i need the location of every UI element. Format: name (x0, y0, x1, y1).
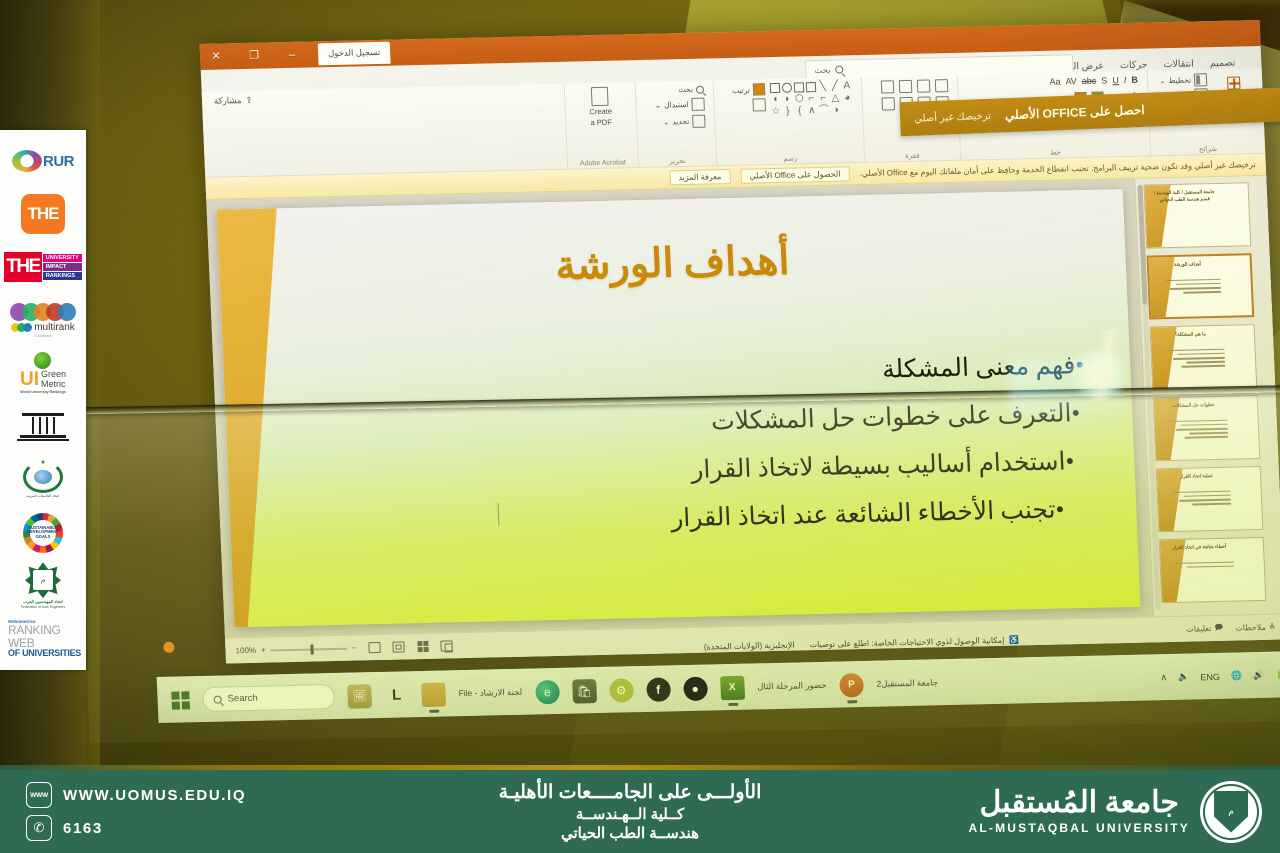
shape-square[interactable] (806, 82, 816, 92)
footer-website-row[interactable]: WWW WWW.UOMUS.EDU.IQ (26, 782, 330, 808)
the-label: THE (28, 204, 59, 224)
the-world-university-rankings-logo: THE (4, 189, 82, 239)
footer-accent-line (0, 765, 1280, 770)
footer-brand-block: جامعة المُستقبل AL-MUSTAQBAL UNIVERSITY … (930, 781, 1280, 843)
phone-icon: ✆ (26, 815, 52, 841)
footer-center-block: الأولـــى على الجامــــعات الأهليـة كــل… (330, 781, 930, 842)
arab-engineers-star-icon: م (25, 562, 61, 598)
find-label: بحث (678, 85, 693, 94)
ui-label: UI (20, 370, 39, 389)
arrange-button[interactable]: ترتيب (732, 83, 765, 96)
slide-number: 5 (1262, 471, 1264, 480)
microsoft-store-icon[interactable]: 🛍 (572, 679, 597, 704)
slide-number: 6 (1265, 542, 1267, 551)
arab-universities-sub: اتحاد الجامعات العربية (27, 494, 59, 498)
search-icon (696, 85, 704, 93)
powerpoint-window-label[interactable]: جامعة المستقبل2 (876, 677, 938, 689)
slide-thumb-title: جامعة المستقبل / كلية الهندسة / قسم هندس… (1151, 189, 1219, 204)
notes-label: ملاحطات (1235, 623, 1266, 633)
impact-line-3: RANKINGS (43, 272, 82, 280)
of-universities-label: OF UNIVERSITIES (8, 649, 81, 658)
comments-button[interactable]: 🗩 تعليقات (1186, 621, 1224, 636)
underline-button[interactable]: U (1112, 75, 1119, 85)
replace-label: استبدال (664, 100, 689, 110)
webometrics-logo: Webometrics RANKING WEB OF UNIVERSITIES (4, 614, 82, 664)
metric-label: Metric (41, 380, 66, 389)
layout-label: تخطيط (1168, 76, 1191, 86)
quick-styles-button[interactable] (732, 98, 766, 112)
normal-view-button[interactable] (368, 642, 380, 653)
layout-button[interactable]: تخطيط ⌄ (1157, 73, 1208, 87)
slide-thumb-lines (1157, 346, 1225, 371)
excel-window-icon[interactable]: X (720, 675, 745, 700)
share-label: مشاركة (214, 95, 242, 107)
lamp-glare-highlight (1068, 350, 1130, 398)
list-item[interactable]: 2 أهداف الورشة (1147, 253, 1255, 319)
tray-expand-icon[interactable]: ∧ (1160, 672, 1167, 683)
notes-view-button[interactable] (392, 641, 404, 652)
line-spacing-icon[interactable] (881, 97, 895, 110)
shape-brace-left[interactable]: { (795, 106, 805, 116)
reading-view-button[interactable] (440, 640, 452, 651)
footer-tagline: الأولـــى على الجامــــعات الأهليـة (330, 781, 930, 804)
shape-caret-up[interactable]: ∧ (807, 106, 817, 116)
tab-animations[interactable]: حركات (1120, 60, 1148, 72)
greenmetric-sub: World University Rankings (20, 390, 66, 394)
group-name-acrobat: Adobe Acrobat (568, 159, 638, 168)
select-icon (692, 115, 706, 128)
group-name-paragraph: فقرة (865, 151, 960, 161)
ribbon-group-acrobat: Create a PDF Adobe Acrobat (563, 82, 638, 169)
slide-title[interactable]: أهداف الورشة (218, 229, 1126, 297)
shape-pie[interactable]: ◕ (842, 93, 852, 103)
file-explorer-label[interactable]: لجنة الارشاد - File (458, 687, 522, 699)
shape-half-right[interactable]: ◗ (782, 95, 792, 105)
weather-widget[interactable]: 19°C مشمس (163, 636, 206, 657)
green-globe-icon (34, 352, 51, 369)
slide-thumb-title: خطوات حل المشكلات (1160, 402, 1227, 410)
start-icon[interactable] (171, 691, 190, 709)
the-impact-rankings-logo: THE UNIVERSITY IMPACT RANKINGS (4, 242, 82, 292)
slide-body-placeholder[interactable]: •فهم معنى المشكلة •التعرف على خطوات حل ا… (263, 342, 1091, 552)
slide-thumb-lines (1167, 559, 1234, 571)
rankings-sidebar: RUR THE THE UNIVERSITY IMPACT RANKINGS (0, 130, 86, 670)
ui-greenmetric-logo: UI Green Metric World University Ranking… (4, 348, 82, 398)
shape-caret-down[interactable]: ⌒ (819, 106, 829, 116)
shanghai-ranking-logo (4, 401, 82, 451)
share-icon: ⇪ (245, 95, 253, 106)
slide-thumb-title: أخطاء شائعة في اتخاذ القرار (1166, 544, 1233, 552)
photos-app-icon[interactable]: 🖼 (347, 684, 372, 709)
powerpoint-window-icon[interactable]: P (839, 673, 864, 698)
tab-design[interactable]: تصميم (1210, 58, 1236, 70)
arrange-icon (753, 83, 766, 95)
other-app-icon[interactable]: ● (683, 676, 708, 701)
list-item[interactable]: 6 أخطاء شائعة في اتخاذ القرار (1159, 537, 1267, 603)
slide-thumb-title: ما هي المشكلة؟ (1157, 331, 1224, 339)
slide-thumbnail-panel[interactable]: 1 جامعة المستقبل / كلية الهندسة / قسم هن… (1134, 176, 1280, 617)
weather-temp: 19°C (187, 636, 205, 645)
language-indicator[interactable]: ENG (1200, 671, 1220, 681)
impact-line-1: UNIVERSITY (43, 254, 82, 262)
share-button[interactable]: ⇪ مشاركة (214, 95, 253, 107)
battery-icon[interactable]: 🔋 (1275, 669, 1280, 680)
bold-button[interactable]: B (1131, 75, 1138, 85)
chevron-down-icon: ⌄ (1159, 76, 1166, 85)
comments-label: تعليقات (1186, 624, 1212, 634)
multirank-dots-icon (11, 323, 32, 332)
slide-number: 1 (1250, 187, 1252, 196)
footer-website[interactable]: WWW.UOMUS.EDU.IQ (63, 787, 246, 804)
list-item[interactable]: 1 جامعة المستقبل / كلية الهندسة / قسم هن… (1143, 182, 1251, 248)
ranking-web-label: RANKING WEB (8, 624, 82, 649)
layout-icon (1194, 73, 1208, 86)
settings-app-icon[interactable]: ⚙ (609, 678, 634, 703)
close-icon[interactable]: ✕ (204, 43, 229, 70)
chevron-down-icon: ⌄ (655, 101, 662, 110)
page-footer: WWW WWW.UOMUS.EDU.IQ ✆ 6163 الأولـــى عل… (0, 770, 1280, 853)
slide-thumb-lines (1155, 276, 1221, 297)
windows-taskbar: Search 🖼 L لجنة الارشاد - File e 🛍 ⚙ f ●… (157, 651, 1280, 723)
footer-phone-row[interactable]: ✆ 6163 (26, 815, 330, 841)
create-pdf-label-2: a PDF (590, 118, 612, 127)
university-crest: م (1200, 781, 1262, 843)
notes-icon: ≜ (1269, 623, 1276, 632)
rur-rankings-logo: RUR (4, 136, 82, 186)
tab-transitions[interactable]: انتقالات (1163, 58, 1194, 70)
university-name-arabic: جامعة المُستقبل (969, 788, 1191, 818)
slide-number: 4 (1259, 400, 1261, 409)
shape-arrow-up-left[interactable]: ⌐ (806, 94, 816, 104)
comment-icon: 🗩 (1214, 621, 1223, 635)
shape-arrow-turn[interactable]: ⌐ (818, 94, 828, 104)
group-name-editing: تحرير (639, 156, 716, 166)
federation-of-arab-engineers-logo: م اتحاد المهندسين العرب Federation of Ar… (4, 561, 82, 611)
office-banner-subline: ترخيصك غير أصلي (914, 110, 991, 124)
select-label: تحديد (672, 117, 689, 126)
character-spacing-button[interactable]: AV (1065, 76, 1077, 86)
multirank-sub: U-Multirank (34, 334, 51, 338)
strikethrough-button[interactable]: abc (1082, 76, 1097, 86)
replace-button[interactable]: استبدال ⌄ (645, 98, 705, 112)
edge-browser-icon[interactable]: e (535, 679, 560, 704)
rur-label: RUR (43, 153, 74, 170)
shape-brace-right[interactable]: } (783, 107, 793, 117)
sun-icon (163, 641, 174, 652)
association-of-arab-universities-logo: ★ اتحاد الجامعات العربية (4, 455, 82, 505)
learn-more-button[interactable]: معرفة المزيد (669, 169, 731, 185)
shape-line-fwd[interactable]: ╱ (830, 82, 840, 92)
slide-thumb-title: عملية اتخاذ القرار (1163, 473, 1230, 481)
network-icon[interactable]: 🌐 (1231, 670, 1243, 681)
shape-oval[interactable] (782, 83, 792, 93)
crest-shield-icon: م (1214, 791, 1248, 833)
search-icon (835, 65, 843, 73)
notes-button[interactable]: ≜ ملاحطات (1235, 623, 1276, 633)
arab-engineers-label-en: Federation of Arab Engineers (21, 605, 65, 609)
zoom-slider[interactable] (271, 647, 347, 651)
file-explorer-icon[interactable] (421, 682, 446, 707)
shape-textbox[interactable]: A (842, 81, 852, 91)
shapes-gallery-row-1[interactable]: ╲ ╱ A (770, 81, 852, 93)
shape-half-left[interactable]: ◖ (770, 95, 780, 105)
screenshot-root: ✕ ❐ – ▣ تسجيل الدخول تصميم انتقالات حركا… (0, 0, 1280, 853)
multirank-label: multirank (34, 322, 75, 333)
arrange-label: ترتيب (732, 85, 750, 94)
taskbar-search-input[interactable]: Search (202, 684, 335, 712)
zoom-control[interactable]: − + 100% (235, 644, 356, 656)
slide-number: 3 (1256, 329, 1258, 338)
zoom-in-button[interactable]: + (261, 646, 266, 655)
slide-sorter-button[interactable] (416, 641, 428, 652)
get-genuine-office-button[interactable]: الحصول على Office الأصلي (740, 166, 850, 183)
taskbar-search-label: Search (227, 693, 258, 705)
select-button[interactable]: تحديد ⌄ (646, 115, 706, 129)
chevron-down-icon: ⌄ (663, 117, 670, 126)
sign-in-button[interactable]: تسجيل الدخول (318, 42, 391, 66)
footer-contact-block: WWW WWW.UOMUS.EDU.IQ ✆ 6163 (0, 782, 330, 841)
text-shadow-button[interactable]: S (1101, 75, 1107, 85)
footer-department: هندســة الطب الحياتي (330, 824, 930, 842)
change-case-button[interactable]: Aa (1049, 77, 1060, 87)
volume-icon[interactable]: 🔊 (1253, 670, 1265, 681)
impact-line-2: IMPACT (43, 263, 82, 271)
shape-line-back[interactable]: ╲ (818, 82, 828, 92)
bullets-icon[interactable] (935, 79, 949, 92)
slide-number: 2 (1252, 259, 1254, 268)
shape-hexagon[interactable]: ⬡ (794, 94, 804, 104)
the-impact-label: THE (4, 252, 42, 282)
sustainable-development-goals-logo: SUSTAINABLE DEVELOPMENT GOALS (4, 508, 82, 558)
italic-button[interactable]: I (1124, 75, 1127, 85)
snipping-tool-icon[interactable]: L (384, 683, 409, 708)
activation-message: ترخيصك غير أصلي وقد تكون ضحية تزييف البر… (859, 160, 1256, 178)
search-icon (213, 695, 221, 703)
accessibility-icon: ♿ (1009, 635, 1019, 644)
create-pdf-button[interactable]: Create a PDF (574, 86, 628, 127)
ribbon-group-editing: بحث استبدال ⌄ تحديد ⌄ (634, 80, 716, 167)
slide-thumb-lines (1164, 488, 1232, 509)
excel-window-label[interactable]: حضور المرحلة الثال (757, 680, 827, 693)
office-banner-headline: احصل على OFFICE الأصلي (1005, 103, 1145, 122)
restore-icon[interactable]: ❐ (242, 43, 267, 70)
search-placeholder: بحث (814, 64, 831, 75)
u-multirank-logo: multirank U-Multirank (4, 295, 82, 345)
minimize-icon[interactable]: – (280, 42, 305, 69)
footer-college: كــلية الــهـندســة (330, 805, 930, 823)
www-globe-icon: WWW (26, 782, 52, 808)
ribbon-group-drawing: ╲ ╱ A ◖ ◗ ⬡ ⌐ ⌐ △ (712, 77, 864, 165)
university-name-english: AL-MUSTAQBAL UNIVERSITY (969, 821, 1191, 835)
shape-triangle[interactable]: △ (830, 94, 840, 104)
new-slide-icon (1226, 77, 1240, 90)
footer-phone[interactable]: 6163 (63, 820, 103, 837)
facebook-app-icon[interactable]: f (646, 677, 671, 702)
temple-icon (17, 413, 69, 441)
pdf-icon (591, 87, 609, 106)
wreath-icon: ★ (23, 461, 63, 493)
shapes-gallery-row-3[interactable]: ☆ } { ∧ ⌒ ◑ (771, 105, 853, 117)
list-item[interactable]: 4 خطوات حل المشكلات (1153, 395, 1261, 461)
list-item[interactable]: 3 ما هي المشكلة؟ (1150, 324, 1258, 390)
multirank-circles-icon (10, 303, 76, 321)
slide-thumb-title: أهداف الورشة (1155, 261, 1220, 269)
zoom-level: 100% (235, 646, 256, 655)
shape-moon[interactable]: ◑ (831, 105, 841, 115)
globe-icon (21, 155, 34, 168)
zoom-out-button[interactable]: − (352, 644, 357, 653)
increase-indent-icon[interactable] (881, 80, 895, 93)
replace-icon (691, 98, 705, 111)
rur-eye-icon (12, 150, 42, 172)
sdg-wheel-icon: SUSTAINABLE DEVELOPMENT GOALS (23, 513, 63, 553)
shape-rounded-rect[interactable] (794, 82, 804, 92)
mute-icon[interactable]: 🔈 (1178, 672, 1190, 683)
quick-styles-icon (752, 98, 766, 111)
create-pdf-label-1: Create (589, 108, 612, 117)
group-name-slides: شرائح (1151, 144, 1265, 155)
weather-condition: مشمس (179, 646, 206, 656)
list-item[interactable]: 5 عملية اتخاذ القرار (1156, 466, 1264, 532)
shape-rectangle[interactable] (770, 83, 780, 93)
decrease-indent-icon[interactable] (899, 80, 913, 93)
sdg-label: SUSTAINABLE DEVELOPMENT GOALS (23, 526, 63, 540)
numbering-icon[interactable] (917, 79, 931, 92)
slide-thumb-lines (1160, 417, 1228, 442)
arab-engineers-label-ar: اتحاد المهندسين العرب (23, 599, 62, 604)
shapes-gallery-row-2[interactable]: ◖ ◗ ⬡ ⌐ ⌐ △ ◕ (770, 93, 852, 105)
shape-star[interactable]: ☆ (771, 107, 781, 117)
find-button[interactable]: بحث (645, 85, 704, 95)
